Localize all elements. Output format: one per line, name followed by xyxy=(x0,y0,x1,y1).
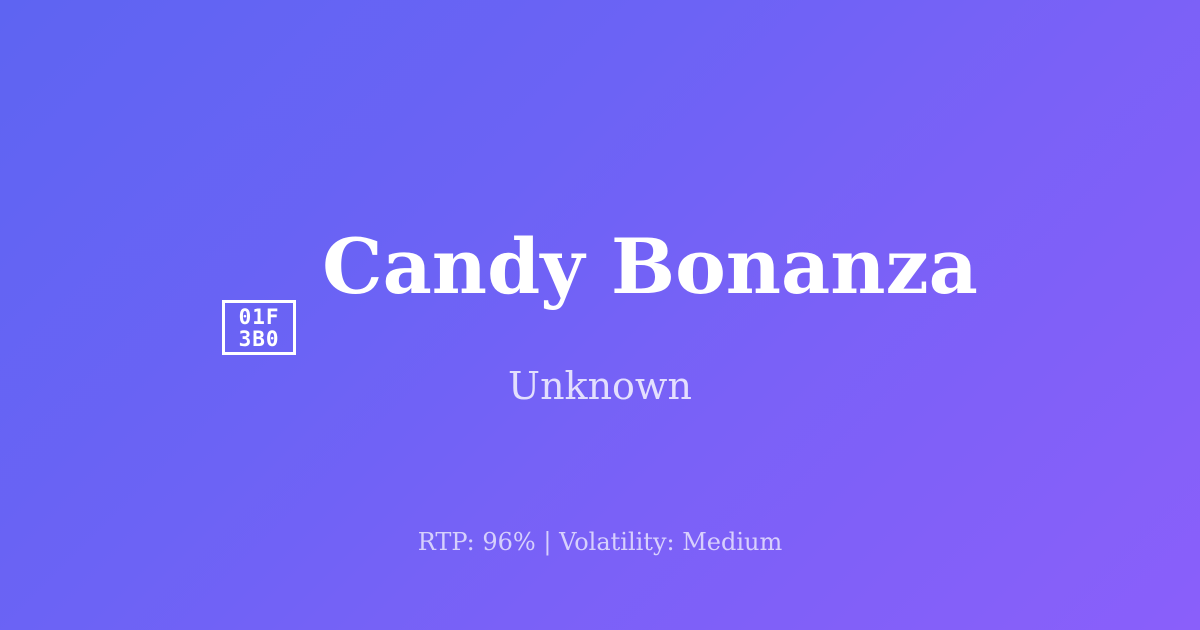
game-stats-line: RTP: 96% | Volatility: Medium xyxy=(0,527,1200,557)
tofu-codepoint-bottom: 3B0 xyxy=(239,328,280,350)
game-title: Candy Bonanza xyxy=(322,229,978,305)
game-promo-card: 01F 3B0 Candy Bonanza Unknown RTP: 96% |… xyxy=(0,0,1200,630)
slot-machine-icon: 01F 3B0 xyxy=(222,300,296,355)
title-row: 01F 3B0 Candy Bonanza xyxy=(0,0,1200,356)
tofu-codepoint-top: 01F xyxy=(239,306,280,328)
game-provider-subtitle: Unknown xyxy=(0,363,1200,409)
